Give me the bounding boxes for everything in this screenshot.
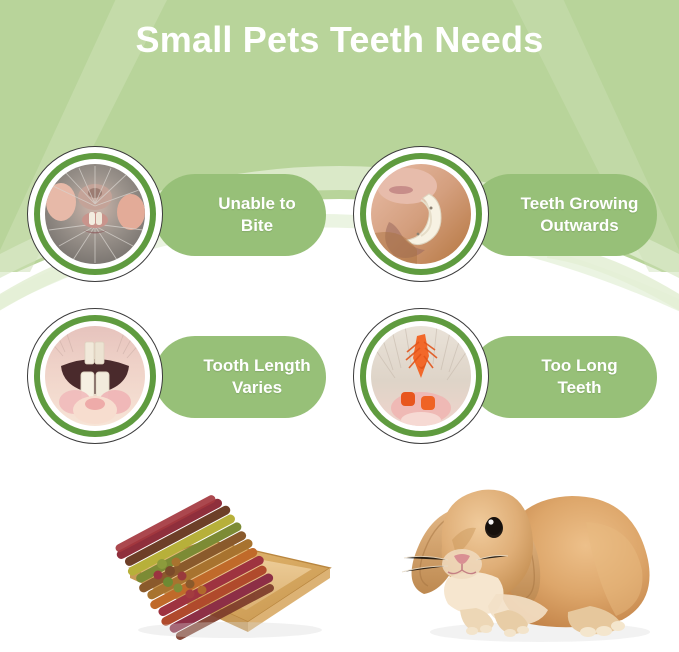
feature-label-line1: Too Long: [541, 356, 617, 375]
feature-card-too-long-teeth[interactable]: Too Long Teeth: [352, 307, 657, 447]
feature-card-unable-to-bite[interactable]: Unable to Bite: [26, 145, 326, 285]
feature-photo-badge: [26, 145, 166, 285]
feature-label: Too Long Teeth: [541, 355, 617, 399]
feature-label-line1: Tooth Length: [203, 356, 310, 375]
feature-card-tooth-length-varies[interactable]: Tooth Length Varies: [26, 307, 326, 447]
feature-label: Unable to Bite: [218, 193, 295, 237]
infographic-page: Small Pets Teeth Needs Unable to Bite: [0, 0, 679, 652]
uneven-front-teeth-closeup-photo: [45, 326, 145, 426]
feature-label-line2: Varies: [232, 378, 282, 397]
feature-card-teeth-growing-outwards[interactable]: Teeth Growing Outwards: [352, 145, 657, 285]
feature-photo-badge: [26, 307, 166, 447]
feature-pill: Tooth Length Varies: [154, 336, 326, 418]
feature-pill: Teeth Growing Outwards: [470, 174, 657, 256]
tan-lop-eared-rabbit-photo: [390, 462, 670, 648]
rabbit-eating-carrot-closeup-photo: [371, 326, 471, 426]
feature-label: Teeth Growing Outwards: [521, 193, 639, 237]
feature-label-line2: Outwards: [540, 216, 618, 235]
wooden-tray-of-colorful-chew-sticks-photo: [78, 472, 354, 644]
feature-label: Tooth Length Varies: [203, 355, 310, 399]
feature-label-line2: Bite: [241, 216, 273, 235]
feature-label-line2: Teeth: [557, 378, 601, 397]
feature-pill: Too Long Teeth: [470, 336, 657, 418]
page-title: Small Pets Teeth Needs: [0, 18, 679, 62]
rodent-mouth-closeup-photo: [45, 164, 145, 264]
overgrown-incisor-closeup-photo: [371, 164, 471, 264]
feature-label-line1: Unable to: [218, 194, 295, 213]
feature-pill: Unable to Bite: [154, 174, 326, 256]
feature-photo-badge: [352, 145, 492, 285]
feature-label-line1: Teeth Growing: [521, 194, 639, 213]
feature-photo-badge: [352, 307, 492, 447]
